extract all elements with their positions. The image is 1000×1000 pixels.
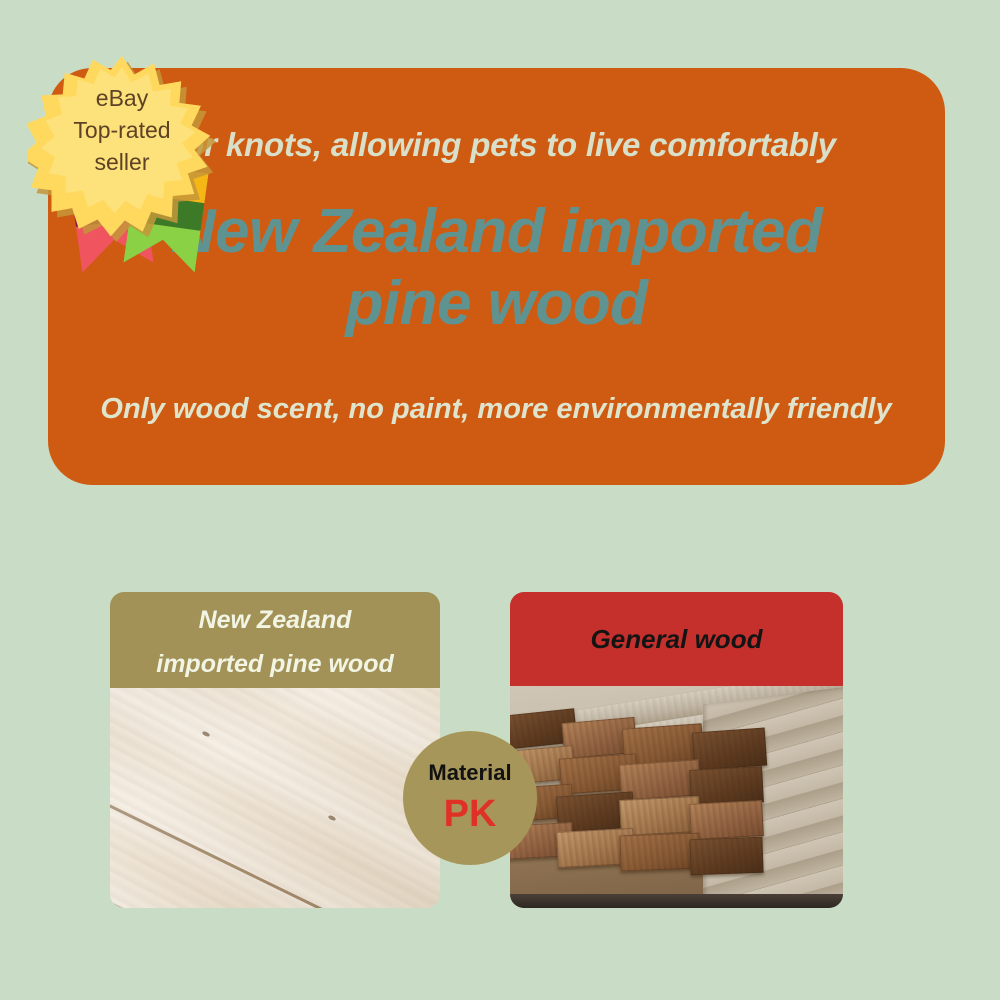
left-panel-title-line-1: New Zealand [110,598,440,642]
left-panel-title-line-2: imported pine wood [110,642,440,686]
lumber-block-r3-4 [689,800,764,840]
left-panel-header: New Zealand imported pine wood [110,592,440,688]
pk-badge-material-label: Material [403,760,537,786]
lumber-block-r4-4 [689,837,763,876]
pale-pine-boards-photo [110,688,440,908]
stacked-rough-lumber-photo [510,686,843,908]
badge-line-ebay: eBay [28,82,216,114]
lumber-block-r4-3 [619,833,700,872]
badge-text-block: eBay Top-rated seller [28,82,216,178]
badge-line-top-rated: Top-rated [28,114,216,146]
right-panel-header: General wood [510,592,843,686]
comparison-panel-general-wood: General wood [510,592,843,908]
badge-line-seller: seller [28,146,216,178]
pk-badge-pk-label: PK [403,793,537,836]
banner-subtitle-bottom: Only wood scent, no paint, more environm… [96,376,896,442]
ebay-top-rated-seller-badge: eBay Top-rated seller [20,50,240,300]
lumber-ground-shadow [510,894,843,908]
lumber-block-r1-4 [692,727,768,770]
pine-grain-texture [110,688,440,908]
right-panel-title: General wood [591,624,763,654]
product-feature-banner-page: s or knots, allowing pets to live comfor… [0,0,1000,1000]
material-pk-badge: Material PK [403,731,537,865]
comparison-panel-new-zealand-pine: New Zealand imported pine wood [110,592,440,908]
